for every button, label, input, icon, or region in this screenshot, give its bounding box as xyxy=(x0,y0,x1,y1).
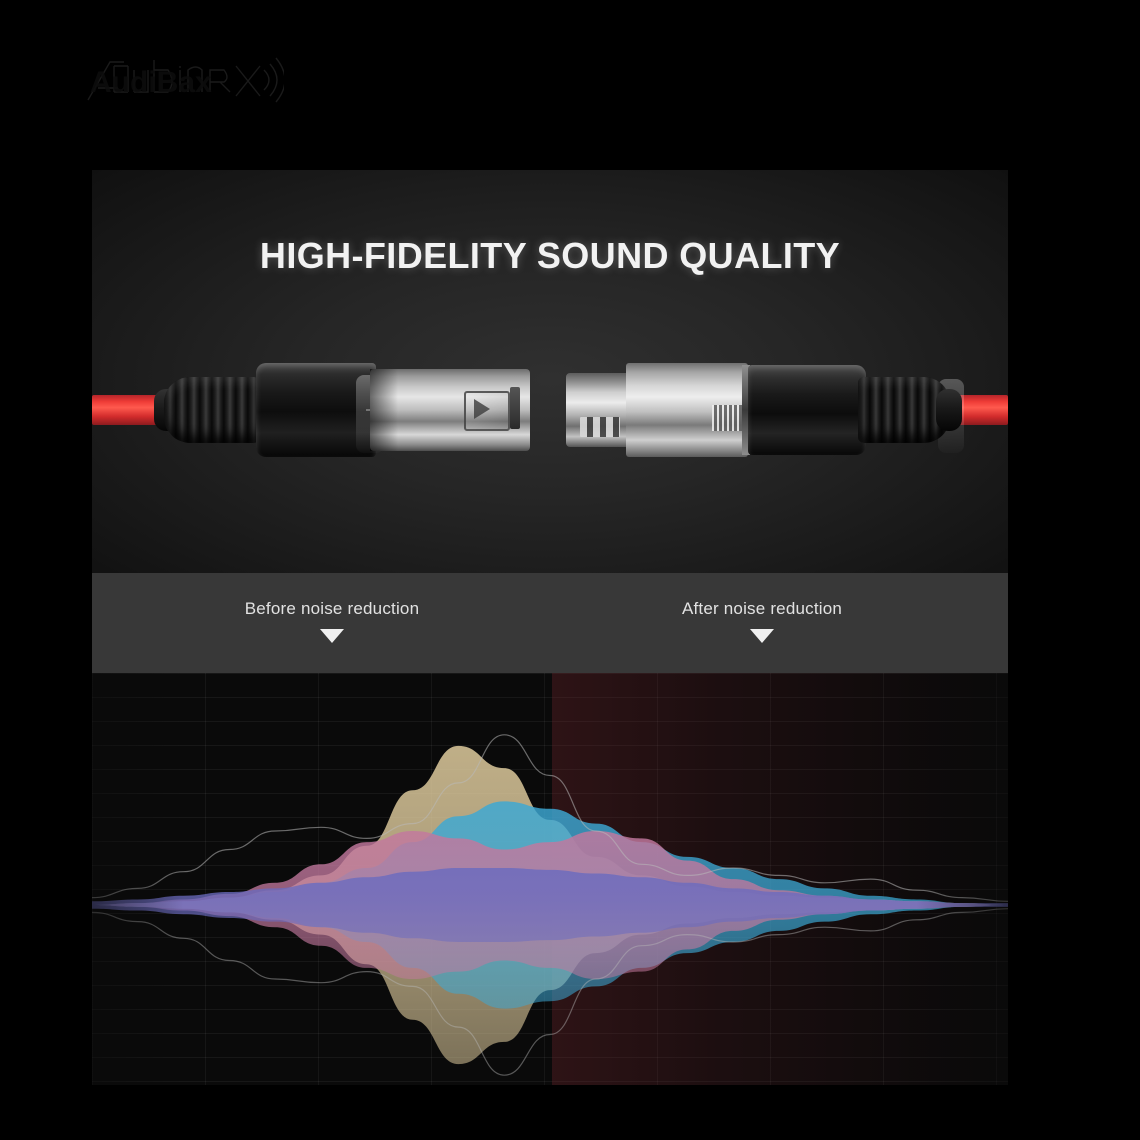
hero-section: HIGH-FIDELITY SOUND QUALITY xyxy=(92,170,1008,573)
male-connector-shell xyxy=(256,363,376,457)
male-contact-pin xyxy=(510,387,520,429)
female-boot-tip xyxy=(936,389,962,431)
female-face-plate xyxy=(566,373,628,447)
speaker-soundwave-icon: AudiBax xyxy=(84,52,284,108)
male-barrel-shadow xyxy=(370,369,398,451)
male-xlr-connector xyxy=(164,359,534,461)
triangle-down-icon xyxy=(320,629,344,643)
page-title: HIGH-FIDELITY SOUND QUALITY xyxy=(92,235,1008,277)
female-metal-body xyxy=(626,363,748,457)
product-panel: HIGH-FIDELITY SOUND QUALITY xyxy=(92,170,1008,1085)
xlr-cable-assembly xyxy=(92,345,1008,475)
caption-band: Before noise reduction After noise reduc… xyxy=(92,573,1008,673)
female-xlr-connector xyxy=(566,359,936,461)
male-strain-relief-boot xyxy=(164,377,260,443)
caption-before-noise-reduction: Before noise reduction xyxy=(182,599,482,643)
female-connector-shell xyxy=(748,365,866,455)
brand-logo: AudiBax xyxy=(84,52,284,108)
male-latch-arrow-icon xyxy=(474,399,490,419)
caption-before-label: Before noise reduction xyxy=(182,599,482,619)
caption-after-label: After noise reduction xyxy=(612,599,912,619)
waveform-comparison-chart xyxy=(92,673,1008,1085)
product-infographic: AudiBax HIGH-FIDELITY SOUND QUALITY xyxy=(0,0,1140,1140)
triangle-down-icon xyxy=(750,629,774,643)
waveform-series-group xyxy=(92,673,1008,1085)
brand-wordmark: AudiBax xyxy=(90,66,212,99)
female-pin-slots xyxy=(580,417,620,437)
caption-after-noise-reduction: After noise reduction xyxy=(612,599,912,643)
